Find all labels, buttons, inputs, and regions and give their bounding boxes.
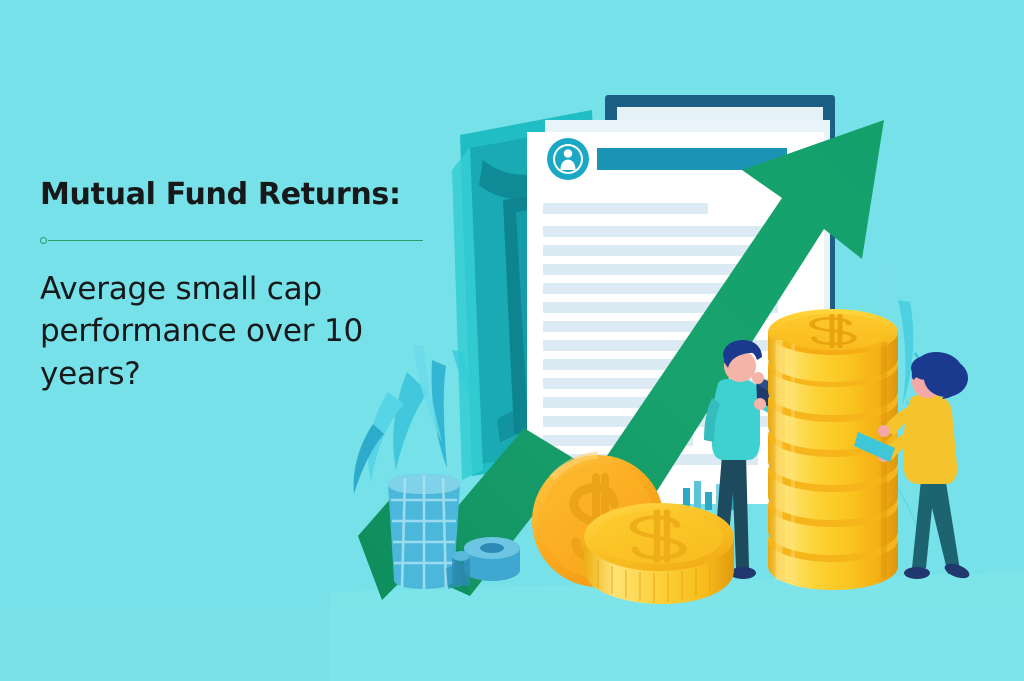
divider-dot-icon bbox=[40, 237, 47, 244]
text-block: Mutual Fund Returns: Average small cap p… bbox=[40, 178, 440, 396]
page-title: Mutual Fund Returns: bbox=[40, 178, 440, 212]
avatar-icon bbox=[547, 138, 589, 180]
illustration-card: Mutual Fund Returns: Average small cap p… bbox=[0, 0, 1024, 681]
floor-band bbox=[0, 610, 1024, 681]
tilted-coin bbox=[584, 503, 734, 604]
page-subtitle: Average small cap performance over 10 ye… bbox=[40, 268, 420, 396]
woven-basket bbox=[388, 474, 462, 589]
divider bbox=[40, 234, 423, 248]
divider-line bbox=[48, 240, 423, 242]
